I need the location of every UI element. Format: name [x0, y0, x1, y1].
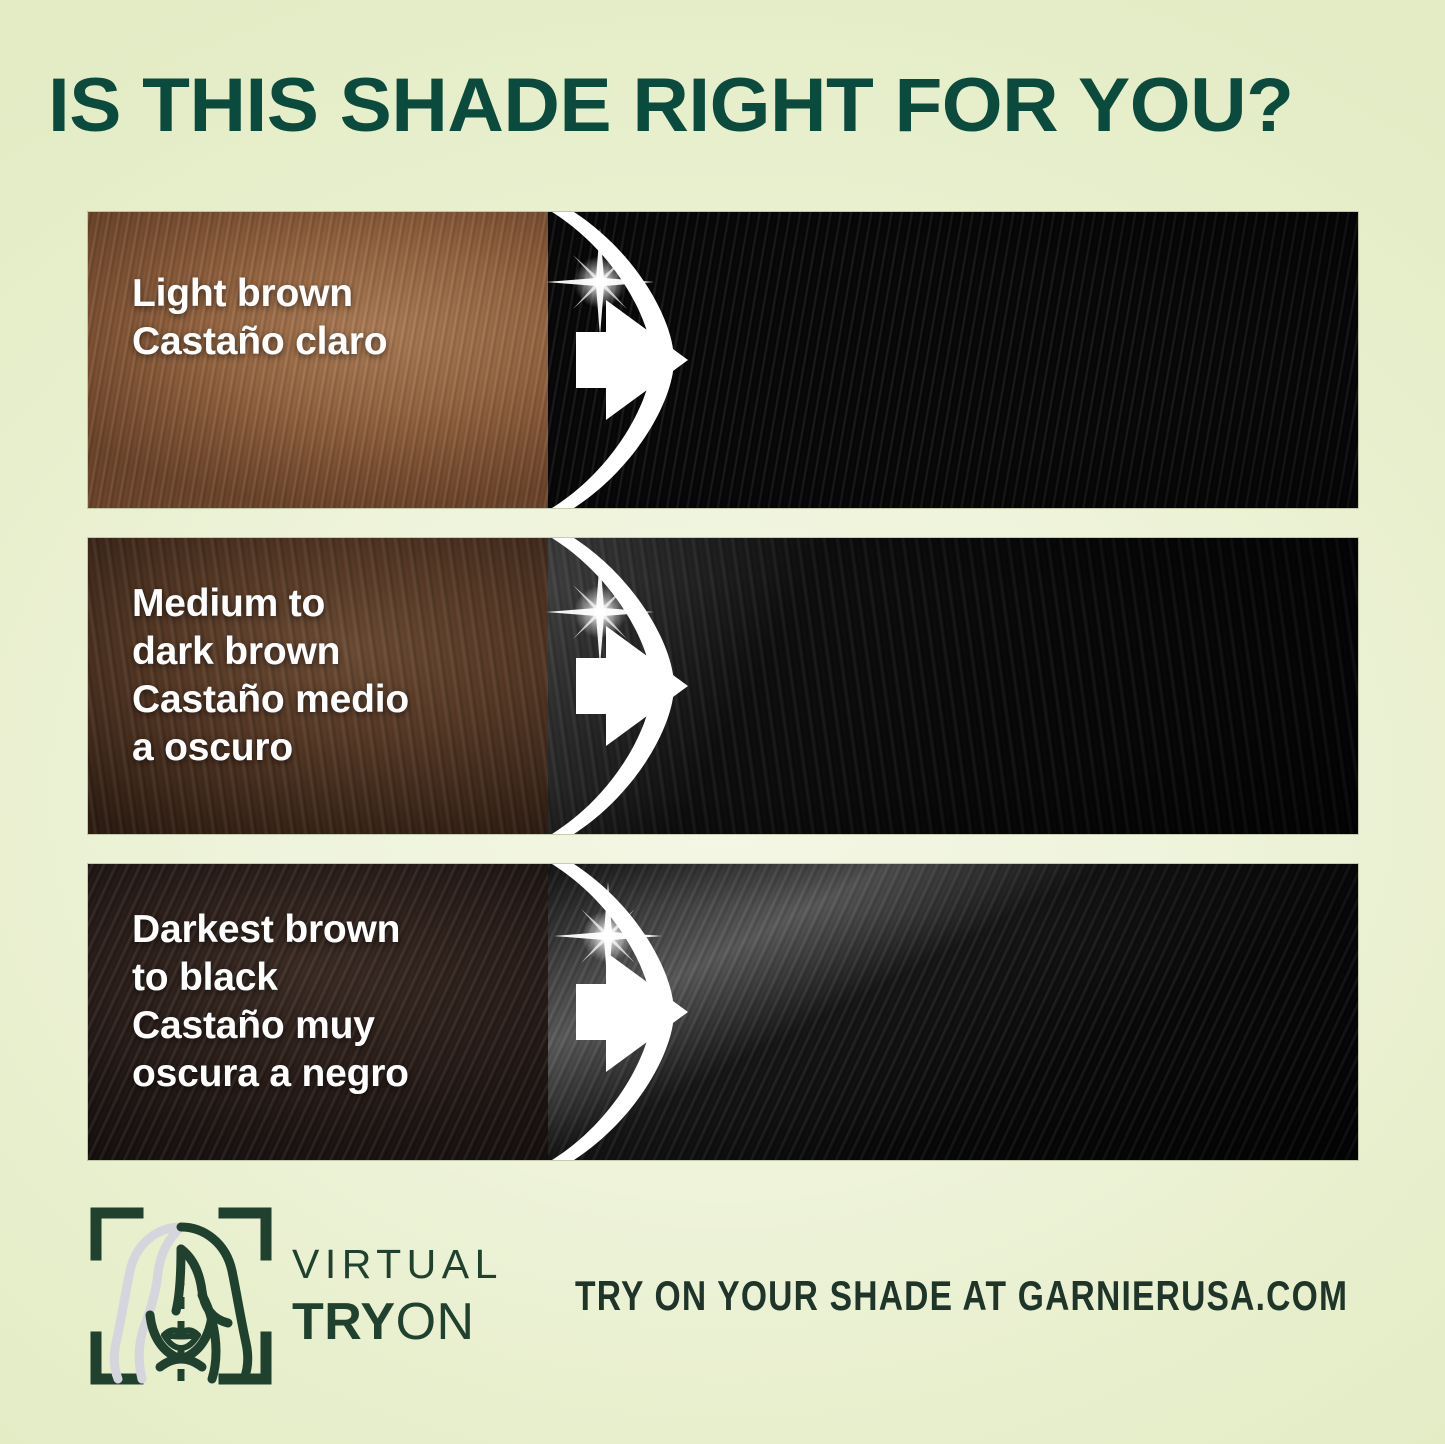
shade-panel-light-brown[interactable]: Light brown Castaño claro — [88, 212, 1358, 508]
try-on-tagline: TRY ON YOUR SHADE AT GARNIERUSA.COM — [575, 1272, 1348, 1320]
arrow-right-icon — [456, 864, 716, 1160]
footer: VIRTUAL TRYON TRY ON YOUR SHADE AT GARNI… — [88, 1196, 1388, 1396]
logo-on-text: ON — [396, 1293, 475, 1351]
logo-line-tryon: TRYON — [292, 1296, 503, 1348]
logo-line-virtual: VIRTUAL — [292, 1244, 503, 1285]
shade-label: Medium to dark brown Castaño medio a osc… — [132, 580, 409, 772]
shade-label: Light brown Castaño claro — [132, 270, 387, 366]
arrow-right-icon — [456, 212, 716, 508]
promo-card: IS THIS SHADE RIGHT FOR YOU? — [0, 0, 1445, 1444]
shade-comparison-list: Light brown Castaño claro — [88, 212, 1358, 1160]
face-scan-icon — [88, 1203, 274, 1389]
logo-try-text: TRY — [292, 1293, 396, 1351]
shade-label: Darkest brown to black Castaño muy oscur… — [132, 906, 409, 1098]
arrow-right-icon — [456, 538, 716, 834]
shade-panel-darkest-brown-to-black[interactable]: Darkest brown to black Castaño muy oscur… — [88, 864, 1358, 1160]
virtual-try-on-wordmark: VIRTUAL TRYON — [292, 1244, 503, 1348]
virtual-try-on-logo[interactable]: VIRTUAL TRYON — [88, 1203, 503, 1389]
shade-panel-medium-to-dark-brown[interactable]: Medium to dark brown Castaño medio a osc… — [88, 538, 1358, 834]
page-title: IS THIS SHADE RIGHT FOR YOU? — [48, 66, 1445, 146]
